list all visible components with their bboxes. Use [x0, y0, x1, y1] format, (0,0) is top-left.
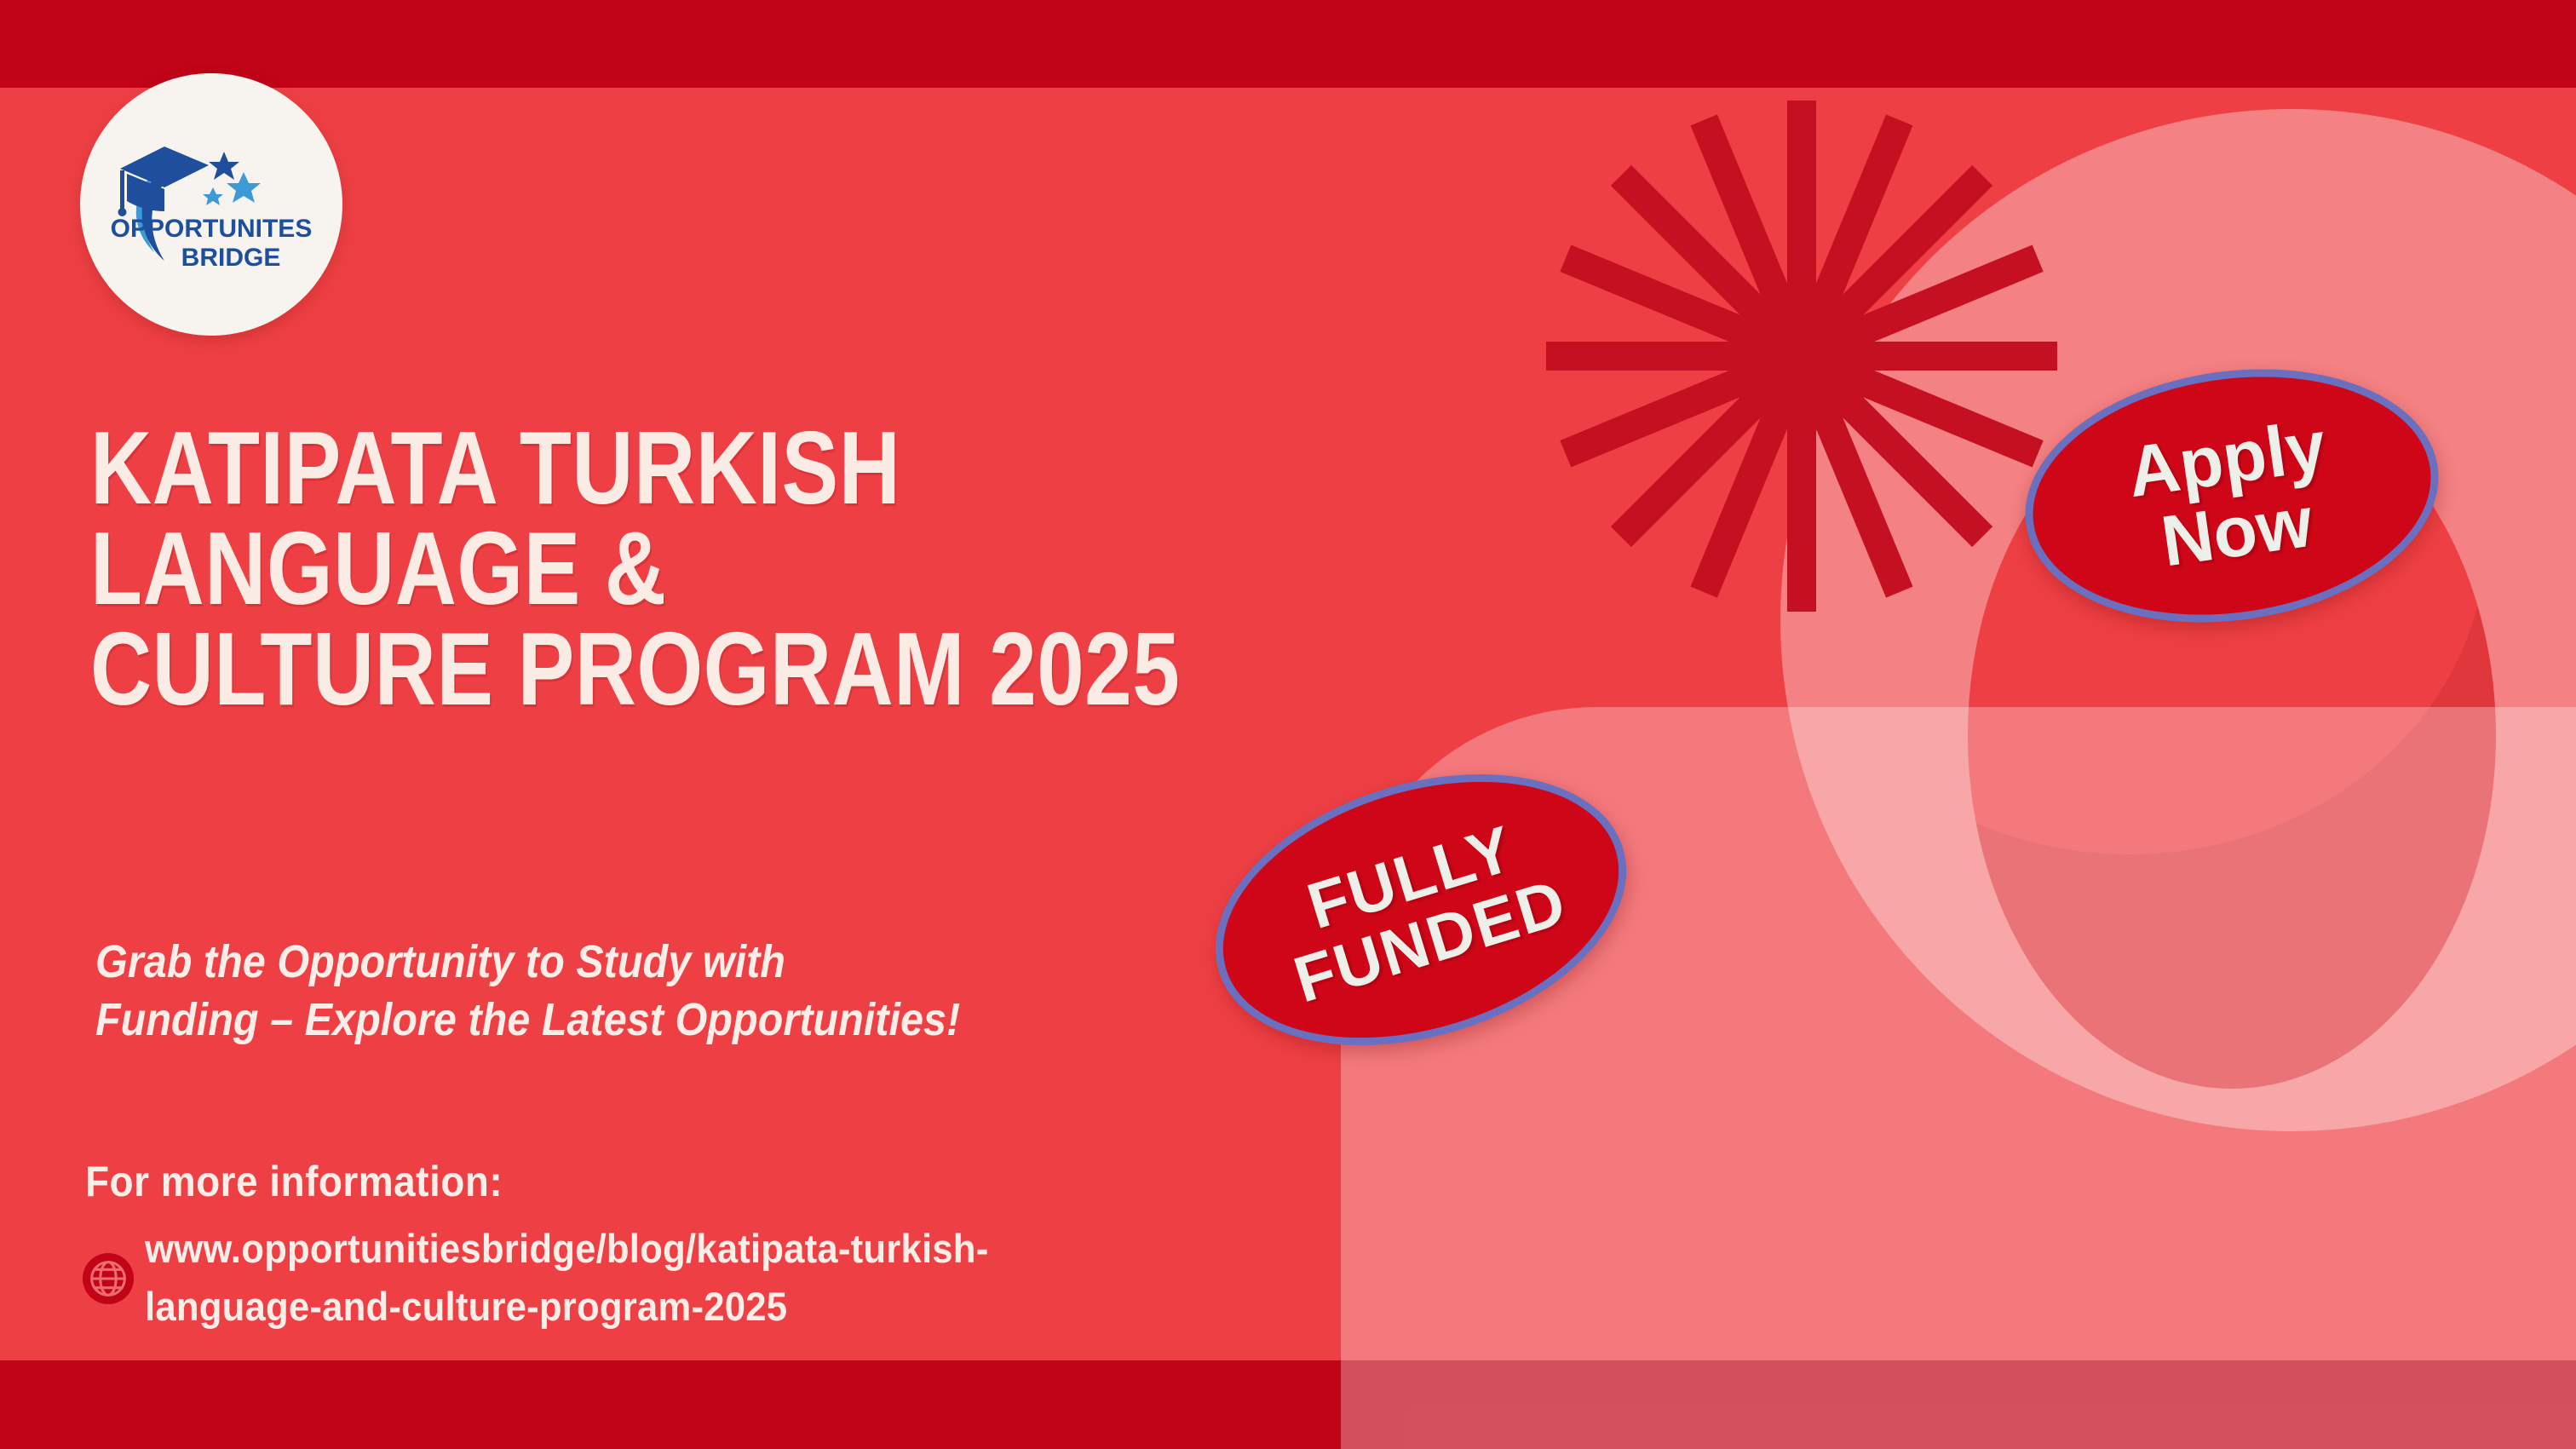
website-url[interactable]: www.opportunitiesbridge/blog/katipata-tu… — [145, 1220, 988, 1336]
starburst-icon — [1546, 101, 2057, 612]
logo-line-2: BRIDGE — [181, 244, 281, 272]
subtitle: Grab the Opportunity to Study with Fundi… — [95, 933, 1169, 1049]
globe-icon — [82, 1252, 135, 1305]
top-band — [0, 0, 2576, 88]
logo-line-1: OPPORTUNITES — [111, 215, 313, 243]
graduation-cap-icon: OPPORTUNITES BRIDGE — [105, 128, 318, 281]
poster-canvas: OPPORTUNITES BRIDGE KATIPATA TURKISH LAN… — [0, 0, 2576, 1449]
more-info-label: For more information: — [85, 1157, 503, 1206]
fully-funded-badge: FULLY FUNDED — [1182, 727, 1660, 1092]
apply-now-badge[interactable]: Apply Now — [2009, 343, 2455, 647]
website-row[interactable]: www.opportunitiesbridge/blog/katipata-tu… — [82, 1220, 1052, 1336]
logo[interactable]: OPPORTUNITES BRIDGE — [80, 73, 342, 336]
bottom-band — [0, 1360, 2576, 1449]
page-title: KATIPATA TURKISH LANGUAGE & CULTURE PROG… — [90, 417, 1348, 719]
